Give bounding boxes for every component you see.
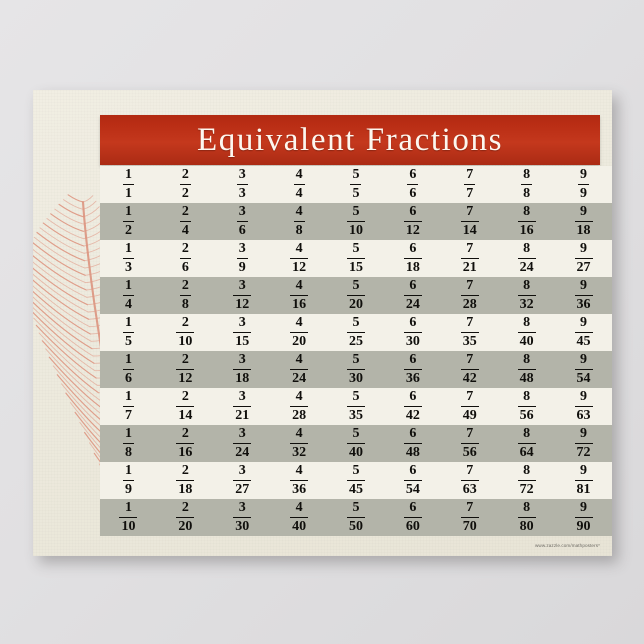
fraction-denominator: 12 — [176, 369, 194, 386]
frond-leaflet — [57, 375, 103, 422]
frond-leaflet — [49, 357, 101, 407]
fraction: 749 — [461, 389, 479, 422]
fraction-numerator: 6 — [404, 241, 422, 257]
fraction: 424 — [290, 352, 308, 385]
frond-leaflet — [33, 257, 87, 297]
frond-leaflet — [83, 196, 93, 202]
fraction: 864 — [518, 426, 536, 459]
fraction-denominator: 64 — [518, 443, 536, 460]
fraction-numerator: 9 — [575, 389, 593, 405]
fraction-numerator: 1 — [119, 500, 137, 516]
fraction-cell: 14 — [100, 277, 157, 314]
fraction-numerator: 3 — [233, 500, 251, 516]
fraction: 216 — [176, 426, 194, 459]
fraction-cell: 66 — [384, 166, 441, 203]
fraction-cell: 19 — [100, 462, 157, 499]
fraction-denominator: 28 — [461, 295, 479, 312]
fraction-numerator: 2 — [176, 352, 194, 368]
fraction-cell: 880 — [498, 499, 555, 536]
fraction-numerator: 7 — [461, 278, 479, 294]
frond-leaflet — [33, 268, 88, 312]
fraction-denominator: 18 — [404, 258, 422, 275]
fraction-cell: 954 — [555, 351, 612, 388]
fraction-cell: 840 — [498, 314, 555, 351]
fraction-denominator: 40 — [518, 332, 536, 349]
fraction-cell: 321 — [214, 388, 271, 425]
fraction-denominator: 7 — [123, 406, 134, 423]
frond-leaflet — [40, 228, 84, 254]
frond-leaflet — [33, 252, 86, 290]
fraction: 832 — [518, 278, 536, 311]
fraction-cell: 770 — [441, 499, 498, 536]
fraction: 735 — [461, 315, 479, 348]
fraction-denominator: 2 — [123, 221, 134, 238]
fraction-cell: 756 — [441, 425, 498, 462]
fraction-numerator: 3 — [233, 315, 251, 331]
fraction: 824 — [518, 241, 536, 274]
fraction-cell: 618 — [384, 240, 441, 277]
fraction-denominator: 8 — [521, 184, 532, 201]
fraction-denominator: 48 — [404, 443, 422, 460]
fraction-numerator: 3 — [233, 389, 251, 405]
fraction: 420 — [290, 315, 308, 348]
fraction: 214 — [176, 389, 194, 422]
fraction-denominator: 14 — [176, 406, 194, 423]
fraction-denominator: 25 — [347, 332, 365, 349]
fraction-cell: 330 — [214, 499, 271, 536]
fraction-numerator: 8 — [521, 167, 532, 183]
poster-canvas: Equivalent Fractions 1122334455667788991… — [0, 0, 644, 644]
fraction-cell: 432 — [271, 425, 328, 462]
fraction-numerator: 2 — [176, 315, 194, 331]
fraction-numerator: 9 — [575, 278, 593, 294]
fraction-cell: 936 — [555, 277, 612, 314]
fraction: 654 — [404, 463, 422, 496]
fraction-numerator: 5 — [347, 352, 365, 368]
fraction-denominator: 56 — [518, 406, 536, 423]
fraction-denominator: 32 — [290, 443, 308, 460]
fraction-numerator: 6 — [407, 167, 418, 183]
frond-leaflet — [46, 349, 100, 400]
fraction: 55 — [350, 167, 361, 200]
fraction-denominator: 42 — [461, 369, 479, 386]
fraction: 17 — [123, 389, 134, 422]
fraction: 763 — [461, 463, 479, 496]
fraction-denominator: 3 — [237, 184, 248, 201]
frond-leaflet — [43, 223, 84, 246]
fraction-cell: 510 — [328, 203, 385, 240]
fraction-cell: 216 — [157, 425, 214, 462]
fraction-numerator: 9 — [575, 352, 593, 368]
fraction-numerator: 2 — [180, 167, 191, 183]
fraction-denominator: 27 — [233, 480, 251, 497]
fraction-denominator: 42 — [404, 406, 422, 423]
frond-leaflet — [47, 219, 84, 239]
fraction-cell: 28 — [157, 277, 214, 314]
fraction-numerator: 3 — [237, 167, 248, 183]
fraction-cell: 872 — [498, 462, 555, 499]
fraction-numerator: 8 — [518, 389, 536, 405]
fraction-cell: 214 — [157, 388, 214, 425]
fraction-cell: 18 — [100, 425, 157, 462]
fraction: 618 — [404, 241, 422, 274]
fraction-numerator: 2 — [176, 426, 194, 442]
fraction-cell: 520 — [328, 277, 385, 314]
frond-leaflet — [64, 200, 84, 210]
fraction: 12 — [123, 204, 134, 237]
fraction-denominator: 45 — [575, 332, 593, 349]
fraction-cell: 540 — [328, 425, 385, 462]
fraction-cell: 210 — [157, 314, 214, 351]
fraction-numerator: 3 — [237, 241, 248, 257]
fraction: 990 — [575, 500, 593, 533]
poster-sheet: Equivalent Fractions 1122334455667788991… — [33, 90, 612, 556]
table-row: 18216324432540648756864972 — [100, 425, 612, 462]
fraction: 28 — [180, 278, 191, 311]
fraction-numerator: 5 — [347, 500, 365, 516]
fraction-cell: 220 — [157, 499, 214, 536]
fraction-denominator: 9 — [578, 184, 589, 201]
fraction-numerator: 4 — [290, 315, 308, 331]
fraction: 48 — [294, 204, 305, 237]
frond-leaflet — [62, 384, 105, 430]
fraction-cell: 416 — [271, 277, 328, 314]
fraction-numerator: 9 — [575, 463, 593, 479]
fraction: 535 — [347, 389, 365, 422]
fraction-denominator: 20 — [176, 517, 194, 534]
fraction-cell: 636 — [384, 351, 441, 388]
fraction: 550 — [347, 500, 365, 533]
fraction-denominator: 5 — [123, 332, 134, 349]
fraction-cell: 48 — [271, 203, 328, 240]
fraction-denominator: 32 — [518, 295, 536, 312]
frond-leaflet — [33, 291, 91, 341]
fraction-numerator: 5 — [347, 315, 365, 331]
fraction-cell: 17 — [100, 388, 157, 425]
fraction-denominator: 30 — [347, 369, 365, 386]
fraction-denominator: 49 — [461, 406, 479, 423]
fraction-numerator: 6 — [404, 315, 422, 331]
fraction-numerator: 5 — [347, 241, 365, 257]
fraction-numerator: 2 — [176, 463, 194, 479]
fraction-numerator: 1 — [123, 204, 134, 220]
fraction-numerator: 1 — [123, 241, 134, 257]
fraction-numerator: 4 — [290, 278, 308, 294]
fraction: 648 — [404, 426, 422, 459]
fraction: 412 — [290, 241, 308, 274]
fraction-numerator: 8 — [518, 352, 536, 368]
fraction-denominator: 16 — [176, 443, 194, 460]
fraction-cell: 420 — [271, 314, 328, 351]
fraction-denominator: 36 — [290, 480, 308, 497]
fraction-numerator: 2 — [176, 500, 194, 516]
fraction: 848 — [518, 352, 536, 385]
fraction: 728 — [461, 278, 479, 311]
fraction-numerator: 2 — [180, 241, 191, 257]
fraction: 642 — [404, 389, 422, 422]
fraction: 428 — [290, 389, 308, 422]
fraction-numerator: 6 — [404, 463, 422, 479]
fraction-numerator: 8 — [518, 500, 536, 516]
fraction-numerator: 3 — [233, 352, 251, 368]
fraction-numerator: 4 — [290, 389, 308, 405]
fraction: 66 — [407, 167, 418, 200]
fraction: 660 — [404, 500, 422, 533]
fraction-denominator: 15 — [347, 258, 365, 275]
fraction: 36 — [237, 204, 248, 237]
fraction: 525 — [347, 315, 365, 348]
fraction-denominator: 8 — [294, 221, 305, 238]
fraction-numerator: 3 — [233, 426, 251, 442]
fraction-numerator: 9 — [575, 500, 593, 516]
fraction-numerator: 8 — [518, 204, 536, 220]
fraction-numerator: 8 — [518, 463, 536, 479]
fraction: 721 — [461, 241, 479, 274]
fraction: 99 — [578, 167, 589, 200]
fraction-numerator: 6 — [404, 500, 422, 516]
fraction-numerator: 1 — [123, 426, 134, 442]
fraction-numerator: 9 — [578, 167, 589, 183]
fraction: 44 — [294, 167, 305, 200]
fraction-cell: 22 — [157, 166, 214, 203]
fraction: 936 — [575, 278, 593, 311]
fraction-cell: 624 — [384, 277, 441, 314]
fraction-cell: 918 — [555, 203, 612, 240]
fraction: 26 — [180, 241, 191, 274]
fraction-denominator: 18 — [233, 369, 251, 386]
fraction-cell: 714 — [441, 203, 498, 240]
fraction-denominator: 48 — [518, 369, 536, 386]
fraction-numerator: 1 — [123, 167, 134, 183]
fraction-cell: 763 — [441, 462, 498, 499]
frond-leaflet — [33, 262, 88, 304]
fraction-cell: 654 — [384, 462, 441, 499]
frond-leaflet — [34, 237, 85, 268]
fraction-denominator: 2 — [180, 184, 191, 201]
fraction-denominator: 24 — [233, 443, 251, 460]
table-row: 132639412515618721824927 — [100, 240, 612, 277]
frond-leaflet — [83, 207, 99, 217]
fraction: 218 — [176, 463, 194, 496]
fraction-cell: 735 — [441, 314, 498, 351]
fraction-numerator: 7 — [461, 241, 479, 257]
fraction-numerator: 7 — [461, 463, 479, 479]
fraction-numerator: 8 — [518, 241, 536, 257]
frond-leaflet — [33, 285, 90, 334]
fraction: 220 — [176, 500, 194, 533]
fraction-cell: 440 — [271, 499, 328, 536]
fraction-cell: 424 — [271, 351, 328, 388]
page-title: Equivalent Fractions — [197, 124, 503, 157]
fraction-denominator: 21 — [233, 406, 251, 423]
fraction-cell: 945 — [555, 314, 612, 351]
fraction-denominator: 63 — [575, 406, 593, 423]
fraction: 212 — [176, 352, 194, 385]
fraction-cell: 972 — [555, 425, 612, 462]
fraction: 624 — [404, 278, 422, 311]
fraction-numerator: 7 — [461, 204, 479, 220]
fraction-cell: 660 — [384, 499, 441, 536]
fraction: 318 — [233, 352, 251, 385]
fraction-denominator: 24 — [404, 295, 422, 312]
fraction: 545 — [347, 463, 365, 496]
fraction: 954 — [575, 352, 593, 385]
frond-leaflet — [59, 204, 83, 216]
fraction: 840 — [518, 315, 536, 348]
fraction-numerator: 9 — [575, 315, 593, 331]
fraction: 39 — [237, 241, 248, 274]
fraction: 19 — [123, 463, 134, 496]
fraction-denominator: 21 — [461, 258, 479, 275]
fraction-denominator: 6 — [407, 184, 418, 201]
fraction-denominator: 6 — [180, 258, 191, 275]
fraction-denominator: 28 — [290, 406, 308, 423]
fraction: 18 — [123, 426, 134, 459]
table-row: 17214321428535642749856963 — [100, 388, 612, 425]
fraction: 440 — [290, 500, 308, 533]
fraction-denominator: 4 — [180, 221, 191, 238]
fraction: 327 — [233, 463, 251, 496]
fraction-cell: 77 — [441, 166, 498, 203]
fraction-denominator: 72 — [518, 480, 536, 497]
frond-leaflet — [53, 366, 102, 415]
fraction-denominator: 6 — [237, 221, 248, 238]
fraction-cell: 832 — [498, 277, 555, 314]
fraction-numerator: 5 — [350, 167, 361, 183]
fraction-numerator: 2 — [176, 389, 194, 405]
frond-leaflet — [33, 242, 85, 275]
fraction-cell: 721 — [441, 240, 498, 277]
fraction-denominator: 9 — [237, 258, 248, 275]
fraction-numerator: 7 — [461, 389, 479, 405]
fraction: 872 — [518, 463, 536, 496]
fraction: 520 — [347, 278, 365, 311]
fraction-cell: 12 — [100, 203, 157, 240]
fraction-numerator: 6 — [404, 426, 422, 442]
fraction-denominator: 36 — [575, 295, 593, 312]
fraction-denominator: 70 — [461, 517, 479, 534]
fraction: 612 — [404, 204, 422, 237]
fraction-numerator: 4 — [290, 241, 308, 257]
fraction-cell: 315 — [214, 314, 271, 351]
fraction-denominator: 56 — [461, 443, 479, 460]
fraction-denominator: 3 — [123, 258, 134, 275]
fraction-denominator: 45 — [347, 480, 365, 497]
fraction: 742 — [461, 352, 479, 385]
title-banner: Equivalent Fractions — [100, 115, 600, 165]
fraction-numerator: 4 — [294, 204, 305, 220]
fraction-denominator: 9 — [123, 480, 134, 497]
watermark-credit: www.zazzle.com/mathposters* — [535, 543, 600, 548]
table-row: 15210315420525630735840945 — [100, 314, 612, 351]
fraction: 77 — [464, 167, 475, 200]
fraction: 15 — [123, 315, 134, 348]
fraction: 330 — [233, 500, 251, 533]
fraction-cell: 11 — [100, 166, 157, 203]
fraction-numerator: 4 — [290, 352, 308, 368]
fraction-cell: 864 — [498, 425, 555, 462]
fraction: 432 — [290, 426, 308, 459]
frond-leaflet — [33, 273, 89, 319]
fraction-cell: 110 — [100, 499, 157, 536]
fraction-numerator: 5 — [347, 204, 365, 220]
fraction-numerator: 5 — [347, 278, 365, 294]
fraction-cell: 218 — [157, 462, 214, 499]
fraction: 22 — [180, 167, 191, 200]
fraction: 11 — [123, 167, 134, 200]
fraction-numerator: 3 — [237, 204, 248, 220]
fraction: 321 — [233, 389, 251, 422]
fraction-denominator: 14 — [461, 221, 479, 238]
fraction-cell: 848 — [498, 351, 555, 388]
fraction-numerator: 2 — [180, 278, 191, 294]
fraction-cell: 545 — [328, 462, 385, 499]
fraction: 981 — [575, 463, 593, 496]
fraction-denominator: 16 — [290, 295, 308, 312]
fraction-denominator: 4 — [294, 184, 305, 201]
frond-leaflet — [55, 209, 83, 224]
fraction-denominator: 15 — [233, 332, 251, 349]
fraction: 530 — [347, 352, 365, 385]
fraction-denominator: 8 — [123, 443, 134, 460]
fraction-denominator: 36 — [404, 369, 422, 386]
fraction-cell: 856 — [498, 388, 555, 425]
fraction-cell: 648 — [384, 425, 441, 462]
fraction: 756 — [461, 426, 479, 459]
fraction-cell: 324 — [214, 425, 271, 462]
fraction-cell: 642 — [384, 388, 441, 425]
fraction: 436 — [290, 463, 308, 496]
fraction: 714 — [461, 204, 479, 237]
fraction-denominator: 50 — [347, 517, 365, 534]
frond-leaflet — [33, 311, 94, 363]
fraction-cell: 33 — [214, 166, 271, 203]
fraction-denominator: 63 — [461, 480, 479, 497]
fraction: 816 — [518, 204, 536, 237]
fraction-numerator: 2 — [180, 204, 191, 220]
fraction-cell: 742 — [441, 351, 498, 388]
fraction-denominator: 81 — [575, 480, 593, 497]
fraction-denominator: 20 — [290, 332, 308, 349]
frond-leaflet — [37, 233, 85, 261]
fraction: 324 — [233, 426, 251, 459]
fraction-numerator: 6 — [404, 389, 422, 405]
fraction-denominator: 72 — [575, 443, 593, 460]
fraction-cell: 412 — [271, 240, 328, 277]
fraction-denominator: 8 — [180, 295, 191, 312]
fraction-numerator: 6 — [404, 278, 422, 294]
fraction: 770 — [461, 500, 479, 533]
fraction: 927 — [575, 241, 593, 274]
fraction-cell: 312 — [214, 277, 271, 314]
fraction: 510 — [347, 204, 365, 237]
fraction-denominator: 24 — [290, 369, 308, 386]
fraction-denominator: 30 — [404, 332, 422, 349]
fraction-cell: 728 — [441, 277, 498, 314]
table-row: 12243648510612714816918 — [100, 203, 612, 240]
fraction: 24 — [180, 204, 191, 237]
fraction: 416 — [290, 278, 308, 311]
fraction-numerator: 3 — [233, 463, 251, 479]
fraction-numerator: 9 — [575, 426, 593, 442]
fraction-numerator: 8 — [518, 426, 536, 442]
fraction-table-container: 1122334455667788991224364851061271481691… — [100, 166, 612, 536]
fraction: 972 — [575, 426, 593, 459]
fraction-numerator: 9 — [575, 241, 593, 257]
fraction-cell: 436 — [271, 462, 328, 499]
fraction-numerator: 4 — [290, 426, 308, 442]
frond-leaflet — [39, 333, 97, 385]
